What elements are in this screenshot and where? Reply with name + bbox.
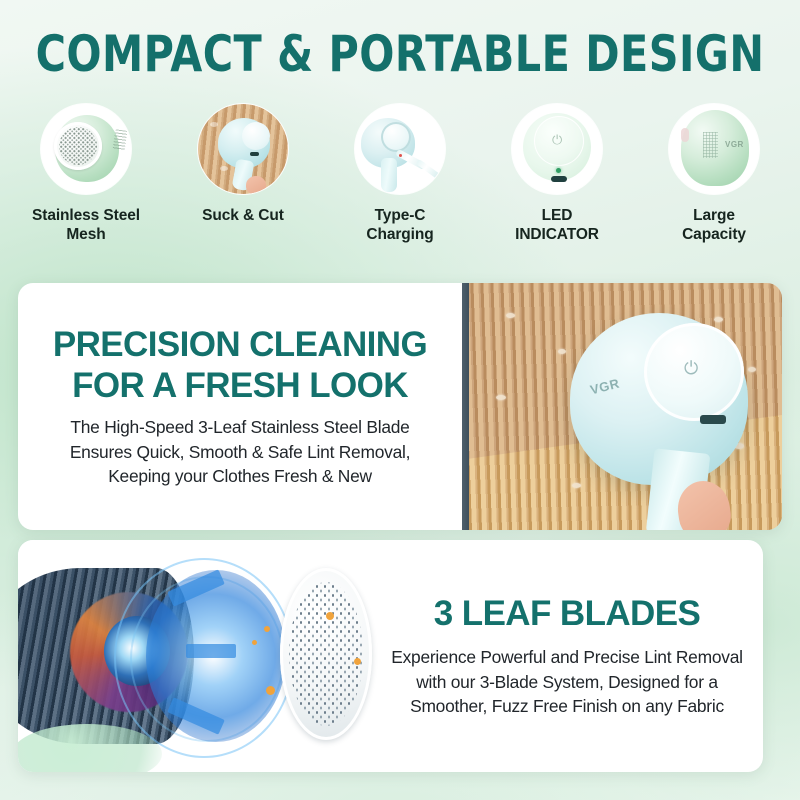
precision-text-block: PRECISION CLEANING FOR A FRESH LOOK The … <box>18 283 462 530</box>
product-infographic: COMPACT & PORTABLE DESIGN Stainless Stee… <box>0 0 800 800</box>
precision-heading-line2: FOR A FRESH LOOK <box>72 366 408 405</box>
blade-exploded-render <box>18 540 390 772</box>
feature-item-led-indicator: ⏻ LEDINDICATOR <box>479 104 635 244</box>
precision-heading-line1: PRECISION CLEANING <box>53 325 427 364</box>
precision-product-photo: ⏻ VGR <box>462 283 782 530</box>
usb-c-port <box>700 415 726 424</box>
brand-mark: VGR <box>725 140 744 149</box>
photo-divider <box>462 283 469 530</box>
device-on-mat-icon <box>198 104 288 194</box>
feature-item-large-capacity: VGR LargeCapacity <box>636 104 792 244</box>
power-symbol-icon: ⏻ <box>552 133 562 146</box>
feature-item-type-c-charging: Type-CCharging <box>322 104 478 244</box>
stainless-mesh-screen <box>280 568 372 740</box>
led-power-top-icon: ⏻ <box>512 104 602 194</box>
blades-body-text: Experience Powerful and Precise Lint Rem… <box>381 645 753 719</box>
feature-item-suck-and-cut: Suck & Cut <box>165 104 321 225</box>
feature-row: Stainless SteelMesh <box>8 104 792 254</box>
mesh-head-icon <box>41 104 131 194</box>
feature-label: Type-CCharging <box>366 206 433 244</box>
feature-label: LEDINDICATOR <box>515 206 599 244</box>
page-title: COMPACT & PORTABLE DESIGN <box>32 26 768 82</box>
device-back-vgr-icon: VGR <box>669 104 759 194</box>
feature-item-stainless-steel-mesh: Stainless SteelMesh <box>8 104 164 244</box>
power-symbol-icon: ⏻ <box>684 359 698 377</box>
blades-heading: 3 LEAF BLADES <box>434 593 700 634</box>
blades-text-block: 3 LEAF BLADES Experience Powerful and Pr… <box>371 540 763 772</box>
precision-body-text: The High-Speed 3-Leaf Stainless Steel Bl… <box>44 415 436 489</box>
precision-heading: PRECISION CLEANING FOR A FRESH LOOK <box>53 324 427 406</box>
usb-c-cable-icon <box>355 104 445 194</box>
feature-label: Stainless SteelMesh <box>32 206 140 244</box>
feature-label: LargeCapacity <box>682 206 746 244</box>
precision-cleaning-card: PRECISION CLEANING FOR A FRESH LOOK The … <box>18 283 782 530</box>
three-leaf-blades-card: 3 LEAF BLADES Experience Powerful and Pr… <box>18 540 763 772</box>
feature-label: Suck & Cut <box>202 206 284 225</box>
